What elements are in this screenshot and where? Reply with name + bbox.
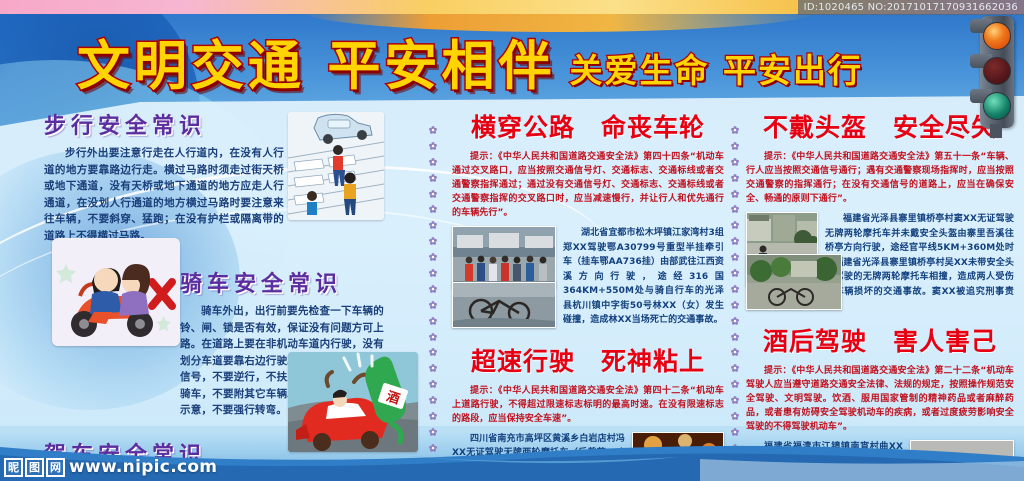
traffic-light-red-lamp xyxy=(983,22,1011,50)
flower-dot-icon xyxy=(731,205,739,213)
section-law-tip: 提示：《中华人民共和国道路交通安全法》第五十一条“车辆、行人应当按照交通信号通行… xyxy=(746,150,1014,206)
motorcycle-scene-photo xyxy=(746,254,842,310)
site-watermark: 昵 图 网 www.nipic.com xyxy=(4,457,217,477)
poster-subtitle: 关爱生命 平安出行 xyxy=(569,44,863,92)
section-heading: 横穿公路 命丧车轮 xyxy=(452,108,724,144)
flower-dot-icon xyxy=(429,333,437,341)
flower-dot-icon xyxy=(731,412,739,420)
flower-dot-icon xyxy=(731,126,739,134)
bicycle-wreck-photo-art xyxy=(453,283,556,328)
flower-dot-icon xyxy=(429,412,437,420)
flower-dot-icon xyxy=(731,158,739,166)
column-divider-left xyxy=(428,126,438,452)
poster-main-title: 文明交通 平安相伴 xyxy=(77,24,555,100)
flower-dot-icon xyxy=(429,428,437,436)
flower-dot-icon xyxy=(429,190,437,198)
section-law-tip: 提示：《中华人民共和国道路交通安全法》第四十四条“机动车通过交叉路口，应当按照交… xyxy=(452,150,724,220)
flower-dot-icon xyxy=(429,174,437,182)
flower-dot-icon xyxy=(429,317,437,325)
ebike-illustration-art xyxy=(52,238,180,346)
flower-dot-icon xyxy=(731,253,739,261)
flower-dot-icon xyxy=(429,396,437,404)
section-heading: 步行安全常识 xyxy=(44,108,284,140)
flower-dot-icon xyxy=(429,364,437,372)
logo-char: 网 xyxy=(46,458,65,477)
traffic-light-green-lamp xyxy=(983,92,1011,120)
motorcycle-scene-photo-art xyxy=(747,255,842,310)
flower-dot-icon xyxy=(429,301,437,309)
ebike-illustration xyxy=(52,238,180,346)
pedestrian-figure xyxy=(307,191,317,215)
flower-dot-icon xyxy=(731,190,739,198)
flower-dot-icon xyxy=(731,428,739,436)
section-law-tip: 提示：《中华人民共和国道路交通安全法》第二十二条“机动车驾驶人应当遵守道路交通安… xyxy=(746,364,1014,434)
poster-canvas: 文明交通 平安相伴关爱生命 平安出行 步行安全常识 步行外出要注意行走在人行道内… xyxy=(0,0,1024,481)
bicycle-wreck-photo xyxy=(452,282,556,328)
flower-dot-icon xyxy=(731,285,739,293)
section-crossing-highway: 横穿公路 命丧车轮 提示：《中华人民共和国道路交通安全法》第四十四条“机动车通过… xyxy=(452,108,724,328)
flower-dot-icon xyxy=(429,142,437,150)
section-pedestrian-safety: 步行安全常识 步行外出要注意行走在人行道内，在没有人行道的地方要靠路边行走。横过… xyxy=(44,108,284,244)
flower-dot-icon xyxy=(429,237,437,245)
crosswalk-illustration-art xyxy=(288,112,384,220)
section-no-helmet: 不戴头盔 安全尽失 提示：《中华人民共和国道路交通安全法》第五十一条“车辆、行人… xyxy=(746,108,1014,310)
traffic-light-icon xyxy=(970,16,1018,134)
traffic-light-pole xyxy=(990,124,1002,138)
flower-dot-icon xyxy=(731,221,739,229)
column-divider-right xyxy=(730,126,740,452)
section-heading: 酒后驾驶 害人害己 xyxy=(746,322,1014,358)
poster-title-block: 文明交通 平安相伴关爱生命 平安出行 xyxy=(0,24,940,100)
case-description: 福建省光泽县寨里镇桥亭村窦XX无证驾驶无牌两轮摩托车并未戴安全头盔由寨里吾溪往桥… xyxy=(825,212,1014,314)
flower-dot-icon xyxy=(731,317,739,325)
flower-dot-icon xyxy=(429,126,437,134)
crosswalk-illustration xyxy=(288,112,384,220)
section-law-tip: 提示：《中华人民共和国道路交通安全法》第四十二条“机动车上道路行驶，不得超过限速… xyxy=(452,384,724,426)
logo-char: 昵 xyxy=(4,458,23,477)
traffic-light-amber-lamp xyxy=(983,57,1011,85)
flower-dot-icon xyxy=(429,380,437,388)
flower-dot-icon xyxy=(429,269,437,277)
flower-dot-icon xyxy=(429,158,437,166)
flower-dot-icon xyxy=(429,221,437,229)
watermark-url: www.nipic.com xyxy=(69,457,217,477)
flower-dot-icon xyxy=(731,380,739,388)
section-body: 步行外出要注意行走在人行道内，在没有人行道的地方要靠路边行走。横过马路时须走过街… xyxy=(44,145,284,244)
flower-dot-icon xyxy=(731,364,739,372)
flower-dot-icon xyxy=(731,333,739,341)
flower-dot-icon xyxy=(429,348,437,356)
logo-char: 图 xyxy=(25,458,44,477)
middle-column: 横穿公路 命丧车轮 提示：《中华人民共和国道路交通安全法》第四十四条“机动车通过… xyxy=(452,108,724,481)
section-heading: 骑车安全常识 xyxy=(180,266,384,298)
flower-dot-icon xyxy=(429,285,437,293)
highway-accident-photo-art xyxy=(453,227,556,288)
section-heading: 超速行驶 死神粘上 xyxy=(452,342,724,378)
flower-dot-icon xyxy=(429,253,437,261)
flower-dot-icon xyxy=(731,348,739,356)
case-description: 湖北省宜都市松木坪镇江家湾村3组郑XX驾驶鄂A30799号重型半挂牵引车（挂车鄂… xyxy=(563,226,724,328)
flower-dot-icon xyxy=(731,237,739,245)
flower-dot-icon xyxy=(731,396,739,404)
flower-dot-icon xyxy=(731,142,739,150)
nipic-logo-icon: 昵 图 网 xyxy=(4,458,65,477)
right-column: 不戴头盔 安全尽失 提示：《中华人民共和国道路交通安全法》第五十一条“车辆、行人… xyxy=(746,108,1014,481)
highway-accident-photo xyxy=(452,226,556,288)
image-id-badge: ID:1020465 NO:20171017170931662036 xyxy=(798,0,1024,15)
flower-dot-icon xyxy=(731,174,739,182)
flower-dot-icon xyxy=(429,205,437,213)
flower-dot-icon xyxy=(731,269,739,277)
flower-dot-icon xyxy=(731,301,739,309)
